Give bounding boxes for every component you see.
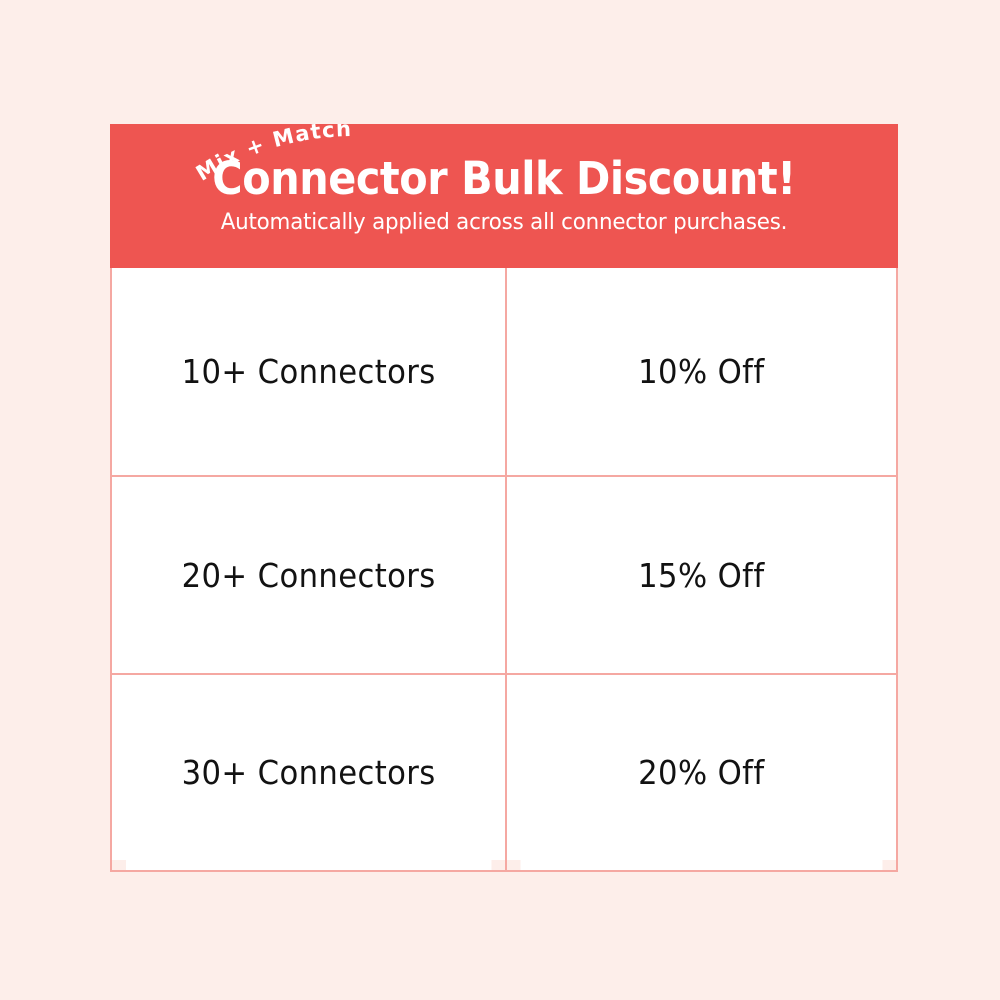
table-row: 30+ Connectors 20% Off	[111, 674, 897, 871]
card-subtitle: Automatically applied across all connect…	[130, 210, 879, 236]
tier-quantity-cell: 30+ Connectors	[125, 674, 493, 871]
tier-discount-cell: 15% Off	[520, 476, 883, 674]
table-row: 10+ Connectors 10% Off	[111, 268, 897, 476]
discount-card: Mix + Match Connector Bulk Discount! Aut…	[110, 124, 898, 860]
promo-graphic: Mix + Match Connector Bulk Discount! Aut…	[0, 0, 1000, 1000]
tier-quantity-cell: 20+ Connectors	[125, 476, 493, 674]
tier-discount-cell: 10% Off	[520, 268, 883, 476]
tier-quantity-cell: 10+ Connectors	[125, 268, 493, 476]
tier-discount-cell: 20% Off	[520, 674, 883, 871]
discount-tier-table: 10+ Connectors 10% Off 20+ Connectors 15…	[110, 268, 898, 872]
table-row: 20+ Connectors 15% Off	[111, 476, 897, 674]
card-header: Mix + Match Connector Bulk Discount! Aut…	[110, 124, 898, 268]
card-title: Connector Bulk Discount!	[142, 156, 867, 201]
